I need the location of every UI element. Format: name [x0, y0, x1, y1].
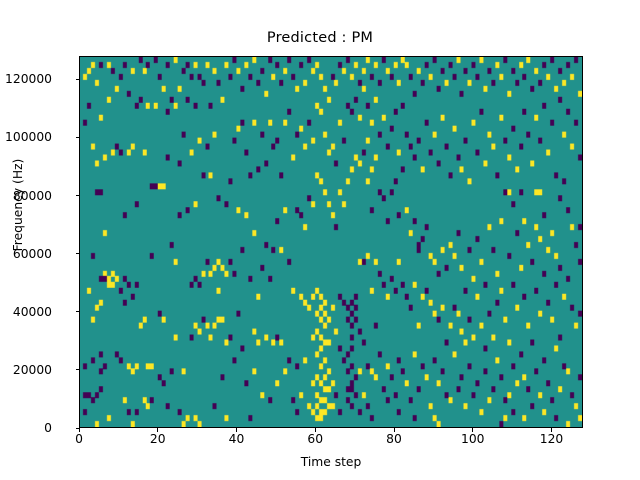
x-axis-label: Time step: [79, 455, 583, 469]
x-tick-mark: [236, 428, 237, 432]
y-tick-mark: [76, 311, 80, 312]
y-tick-label: 40000: [0, 305, 52, 319]
x-tick-mark: [79, 428, 80, 432]
x-tick-mark: [472, 428, 473, 432]
x-tick-label: 100: [443, 432, 503, 446]
y-tick-label: 0: [0, 421, 52, 435]
y-tick-mark: [76, 137, 80, 138]
heatmap-canvas: [80, 57, 582, 427]
y-tick-mark: [76, 253, 80, 254]
y-tick-label: 60000: [0, 247, 52, 261]
x-tick-mark: [551, 428, 552, 432]
chart-title: Predicted : PM: [0, 30, 640, 46]
x-tick-mark: [315, 428, 316, 432]
x-tick-label: 120: [522, 432, 582, 446]
y-tick-label: 120000: [0, 72, 52, 86]
x-tick-label: 60: [285, 432, 345, 446]
x-tick-label: 0: [49, 432, 109, 446]
x-tick-label: 20: [128, 432, 188, 446]
matplotlib-figure: Predicted : PM Frequency (Hz) Time step …: [0, 0, 640, 480]
y-tick-label: 100000: [0, 130, 52, 144]
x-tick-label: 40: [207, 432, 267, 446]
heatmap-plot-area[interactable]: [79, 56, 583, 428]
y-tick-mark: [76, 369, 80, 370]
y-tick-mark: [76, 195, 80, 196]
y-tick-label: 80000: [0, 189, 52, 203]
x-tick-mark: [157, 428, 158, 432]
x-tick-label: 80: [364, 432, 424, 446]
y-tick-mark: [76, 79, 80, 80]
x-tick-mark: [394, 428, 395, 432]
y-tick-label: 20000: [0, 363, 52, 377]
